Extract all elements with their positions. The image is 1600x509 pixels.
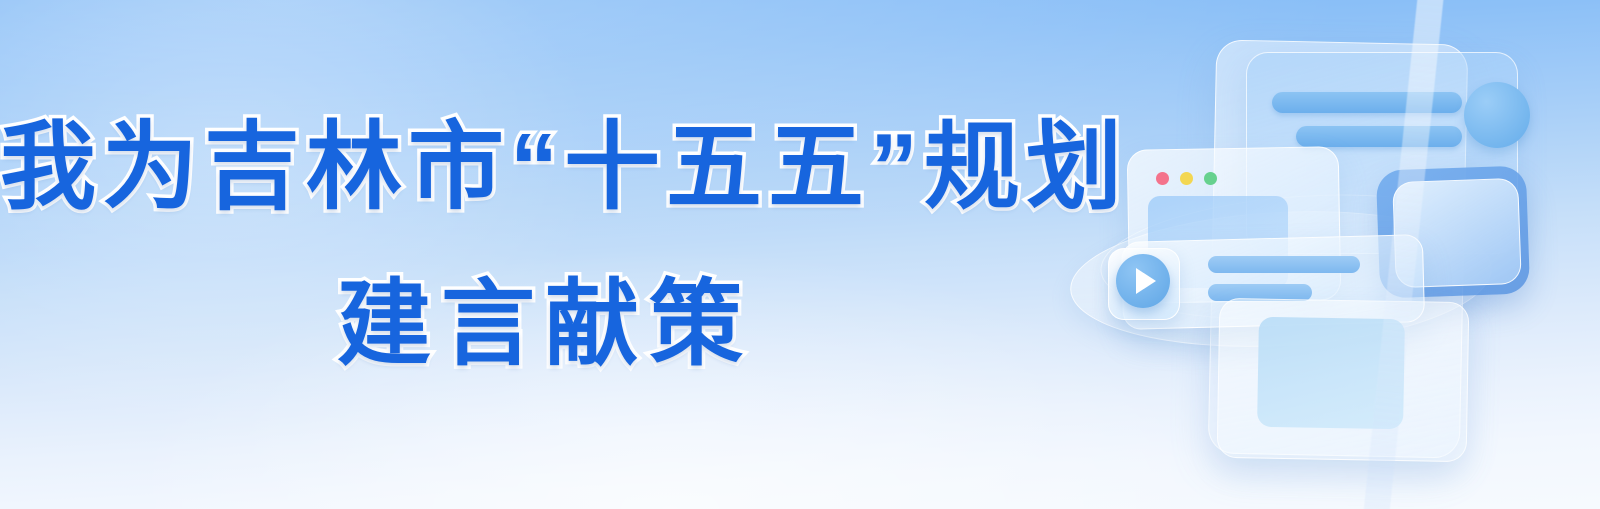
play-triangle-icon (1136, 268, 1156, 294)
hero-illustration (1060, 0, 1600, 509)
content-text-line-1 (1272, 92, 1462, 113)
campaign-banner: 我为吉林市“十五五”规划 建言献策 (0, 0, 1600, 509)
yellow-dot-icon (1180, 172, 1193, 185)
headline-line-1: 我为吉林市“十五五”规划 (0, 118, 1090, 219)
content-text-line-2 (1296, 126, 1462, 147)
avatar (1464, 82, 1530, 148)
green-dot-icon (1204, 172, 1217, 185)
media-text-line-1 (1208, 256, 1360, 273)
red-dot-icon (1156, 172, 1169, 185)
headline-line-2: 建言献策 (0, 275, 1090, 374)
banner-headline: 我为吉林市“十五五”规划 建言献策 (0, 118, 1090, 373)
